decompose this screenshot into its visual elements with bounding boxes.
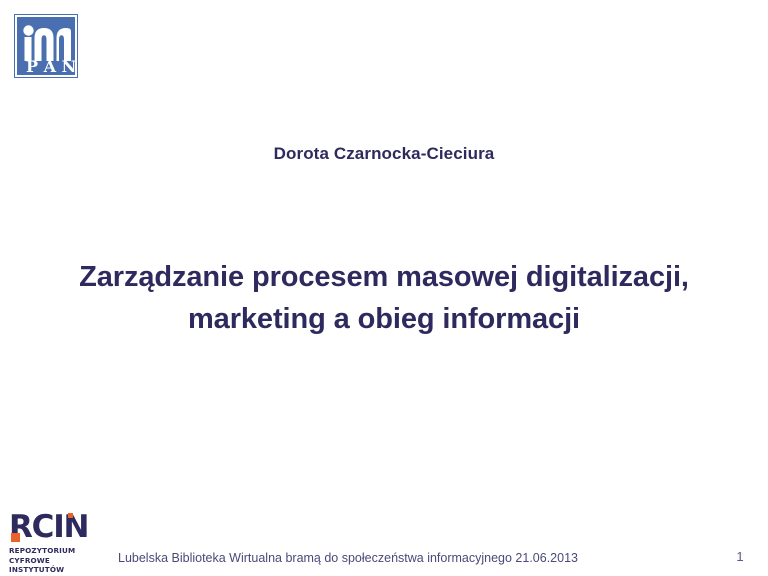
rcin-subtitle-line-2: INSTYTUTÓW NAUKOWYCH — [9, 565, 117, 576]
rcin-subtitle-line-1: REPOZYTORIUM CYFROWE — [9, 546, 117, 565]
pan-logo-icon: P A N — [14, 14, 78, 78]
rcin-wordmark-text: RCIN — [9, 509, 88, 545]
rcin-wordmark: RCIN — [9, 512, 117, 544]
pan-logo: P A N — [14, 14, 78, 78]
footer-conference-text: Lubelska Biblioteka Wirtualna bramą do s… — [118, 551, 578, 565]
pan-logo-letters: P A N — [26, 57, 76, 76]
rcin-orange-square-icon — [11, 533, 20, 542]
presentation-slide: P A N Dorota Czarnocka-Cieciura Zarządza… — [0, 0, 768, 576]
rcin-i-dot-icon — [68, 513, 73, 518]
slide-page-number: 1 — [730, 549, 750, 564]
rcin-logo: RCIN REPOZYTORIUM CYFROWE INSTYTUTÓW NAU… — [9, 512, 117, 570]
slide-title-line-1: Zarządzanie procesem masowej digitalizac… — [60, 256, 708, 298]
slide-title: Zarządzanie procesem masowej digitalizac… — [60, 256, 708, 340]
slide-title-line-2: marketing a obieg informacji — [60, 298, 708, 340]
slide-author: Dorota Czarnocka-Cieciura — [0, 144, 768, 164]
rcin-subtitle: REPOZYTORIUM CYFROWE INSTYTUTÓW NAUKOWYC… — [9, 546, 117, 576]
